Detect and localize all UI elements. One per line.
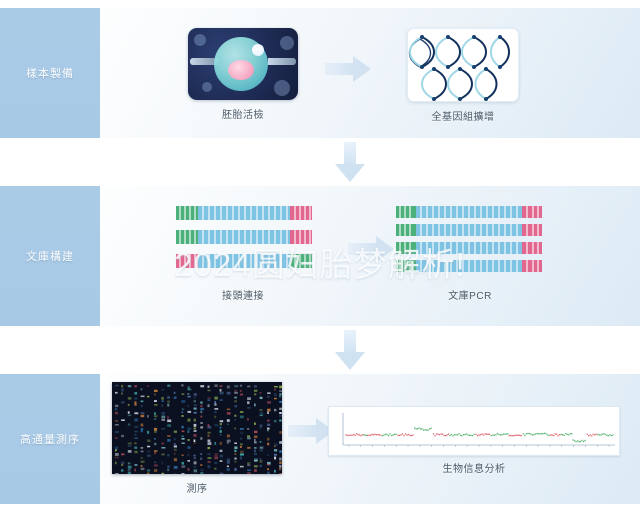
step-embryo-biopsy: 胚胎活檢 xyxy=(188,28,298,121)
step-library-pcr: 文庫PCR xyxy=(390,202,550,302)
library-pcr-icon xyxy=(390,202,550,285)
step-caption: 文庫PCR xyxy=(390,287,550,302)
stage-label-sequencing: 高通量測序 xyxy=(0,374,100,504)
panel-sample-preparation: 胚胎活檢 xyxy=(100,8,640,138)
cnv-plot-icon xyxy=(328,406,620,456)
embryo-biopsy-icon xyxy=(188,28,298,100)
library-pcr-svg xyxy=(390,202,550,280)
step-caption: 生物信息分析 xyxy=(328,460,620,475)
workflow-row-sample-preparation: 樣本製備 胚胎活檢 xyxy=(0,8,640,138)
arrow-down-icon-1 xyxy=(335,142,365,182)
step-adapter-ligation: 接頭連接 xyxy=(168,202,318,302)
workflow-diagram: 樣本製備 胚胎活檢 xyxy=(0,0,640,513)
arrow-right-icon xyxy=(348,236,394,262)
arrow-down-icon-2 xyxy=(335,330,365,370)
stage-label-text: 文庫構建 xyxy=(26,248,74,264)
step-caption: 測序 xyxy=(112,480,282,495)
arrow-right-icon xyxy=(325,56,371,82)
panel-sequencing: 測序 生物信息分析 xyxy=(100,374,640,504)
workflow-row-sequencing: 高通量測序 測序 xyxy=(0,374,640,504)
adapter-ligation-icon xyxy=(168,202,318,285)
step-sequencing: 測序 xyxy=(112,382,282,495)
step-bioinformatics: 生物信息分析 xyxy=(328,406,620,475)
flowcell-svg xyxy=(112,382,282,474)
stage-label-library-construction: 文庫構建 xyxy=(0,186,100,326)
stage-label-sample-preparation: 樣本製備 xyxy=(0,8,100,138)
workflow-row-library-construction: 文庫構建 xyxy=(0,186,640,326)
flowcell-image-icon xyxy=(112,382,282,474)
stage-label-text: 高通量測序 xyxy=(20,431,80,447)
stage-label-text: 樣本製備 xyxy=(26,65,74,81)
step-caption: 胚胎活檢 xyxy=(188,106,298,121)
pipette-right-icon xyxy=(268,58,296,65)
dna-helix-icon xyxy=(407,28,519,102)
adapter-ligation-svg xyxy=(168,202,318,280)
step-caption: 全基因組擴增 xyxy=(407,108,519,123)
panel-library-construction: 接頭連接 xyxy=(100,186,640,326)
dna-helix-svg xyxy=(408,29,518,101)
step-whole-genome-amplification: 全基因組擴增 xyxy=(407,28,519,123)
step-caption: 接頭連接 xyxy=(168,287,318,302)
cnv-plot-svg xyxy=(329,407,619,455)
